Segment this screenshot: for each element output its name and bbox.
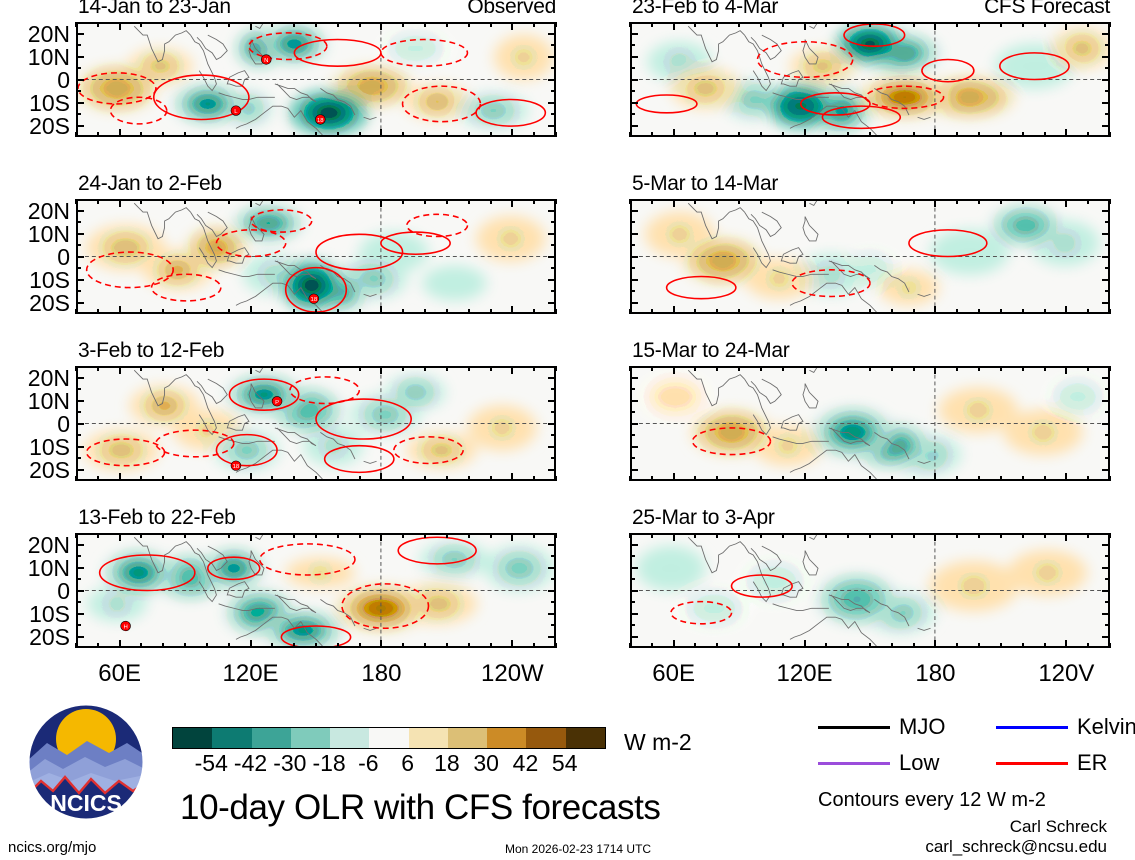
y-tick [551,411,556,413]
svg-text:N: N [264,58,268,64]
author-email[interactable]: carl_schreck@ncsu.edu [925,838,1107,856]
mjo-olr-figure: 14-Jan to 23-JanObservedNL1824-Jan to 2-… [0,0,1135,860]
x-tick [716,533,718,538]
x-axis-label: 60E [86,662,154,686]
x-tick [1087,309,1089,314]
y-tick [76,113,81,115]
x-tick [891,22,893,27]
x-tick [337,132,339,137]
y-tick [630,233,638,235]
y-tick [548,102,556,104]
x-tick [468,533,470,538]
panel-frame [630,366,1110,481]
y-axis-label: 20S [0,115,70,138]
x-tick [782,199,784,204]
panel-5-mar-to-14-mar: 5-Mar to 14-Mar [630,199,1110,314]
x-tick [555,309,557,314]
x-tick [271,476,273,481]
y-tick [76,210,84,212]
x-axis-label: 120W [478,662,546,686]
y-tick [548,210,556,212]
colorbar-segment [526,728,565,748]
x-tick [97,643,99,648]
x-tick [673,366,675,374]
x-tick [293,199,295,204]
y-tick [1102,377,1110,379]
y-tick [1105,388,1110,390]
y-tick [76,590,84,592]
x-tick [206,309,208,314]
x-tick [934,473,936,481]
x-tick [337,533,339,538]
x-tick [782,366,784,371]
x-tick [490,476,492,481]
panel-title: 15-Mar to 24-Mar [632,340,789,362]
x-tick [533,366,535,371]
x-tick [738,22,740,27]
y-tick [1105,290,1110,292]
x-tick [140,199,142,204]
panel-24-jan-to-2-feb: 24-Jan to 2-Feb18 [76,199,556,314]
x-tick [869,22,871,27]
y-tick [630,624,635,626]
y-tick [548,567,556,569]
x-tick [760,643,762,648]
panel-title: 3-Feb to 12-Feb [78,340,224,362]
y-tick [1105,244,1110,246]
x-tick [869,199,871,204]
x-tick [1000,643,1002,648]
colorbar[interactable] [172,727,606,749]
x-tick [1022,199,1024,204]
x-tick [402,132,404,137]
x-tick [119,473,121,481]
y-tick [551,601,556,603]
x-tick [555,366,557,371]
y-tick [76,567,84,569]
y-tick [548,33,556,35]
x-tick [913,366,915,371]
panel-title: 23-Feb to 4-Mar [632,0,778,18]
y-tick [630,578,635,580]
legend-item-kelvin-x2[interactable]: Kelvin x2 [996,716,1135,738]
y-tick [630,613,638,615]
x-tick [956,132,958,137]
y-tick [1102,302,1110,304]
x-tick [250,129,252,137]
olr-anomaly-field [632,24,1108,135]
x-tick [337,309,339,314]
y-tick [76,67,81,69]
y-tick [76,613,84,615]
x-tick [97,533,99,538]
x-tick [825,22,827,27]
legend-line-swatch [996,726,1068,729]
y-tick [1105,624,1110,626]
x-tick [825,132,827,137]
x-tick [380,640,382,648]
x-tick [402,309,404,314]
x-tick [511,22,513,30]
y-tick [548,636,556,638]
colorbar-segment [173,728,212,748]
x-tick [694,476,696,481]
legend-item-low[interactable]: Low [818,752,939,774]
x-tick [1087,643,1089,648]
panel-13-feb-to-22-feb: 13-Feb to 22-FebH [76,533,556,648]
panel-frame [630,22,1110,137]
x-tick [738,643,740,648]
x-tick [651,22,653,27]
x-tick [1000,476,1002,481]
x-tick [250,22,252,30]
y-axis-label: 0 [0,580,70,603]
x-tick [651,476,653,481]
y-tick [548,377,556,379]
x-tick [1044,366,1046,371]
x-tick [1109,22,1111,27]
x-tick [555,132,557,137]
y-tick [76,90,81,92]
x-tick [97,132,99,137]
x-tick [446,309,448,314]
panel-title: 5-Mar to 14-Mar [632,173,778,195]
x-tick [629,643,631,648]
y-tick [630,67,635,69]
y-tick [76,544,84,546]
site-link[interactable]: ncics.org/mjo [8,840,96,856]
colorbar-segment [330,728,369,748]
x-tick [402,22,404,27]
y-tick [551,44,556,46]
x-tick [337,199,339,204]
y-tick [1102,469,1110,471]
y-axis-label: 20S [0,292,70,315]
svg-text:18: 18 [311,297,318,303]
x-tick [75,132,77,137]
x-tick [978,309,980,314]
x-tick [402,476,404,481]
x-tick [271,309,273,314]
y-tick [76,244,81,246]
x-tick [673,199,675,207]
x-tick [1109,366,1111,371]
x-tick [446,643,448,648]
x-tick [1000,309,1002,314]
x-tick [380,533,382,541]
y-tick [551,290,556,292]
colorbar-segment [212,728,251,748]
x-tick [468,366,470,371]
x-tick [184,132,186,137]
y-tick [630,102,638,104]
y-tick [630,221,635,223]
x-tick [804,129,806,137]
x-tick [293,132,295,137]
x-tick [424,199,426,204]
panel-14-jan-to-23-jan: 14-Jan to 23-JanObservedNL18 [76,22,556,137]
x-tick [140,309,142,314]
y-tick [1105,457,1110,459]
x-tick [956,22,958,27]
x-tick [359,366,361,371]
x-tick [1022,643,1024,648]
y-tick [1102,446,1110,448]
x-tick [1087,132,1089,137]
y-tick [630,210,638,212]
storm-marker: H [121,621,131,631]
y-tick [630,33,638,35]
x-tick [978,533,980,538]
y-tick [76,457,81,459]
y-tick [1105,555,1110,557]
svg-text:P: P [275,400,279,406]
x-tick [206,22,208,27]
x-tick [75,199,77,204]
x-tick [825,366,827,371]
x-tick [956,533,958,538]
y-tick [551,578,556,580]
olr-anomaly-field: H [78,535,554,646]
x-tick [315,643,317,648]
y-axis-label: 20N [0,534,70,557]
x-tick [716,132,718,137]
x-tick [629,22,631,27]
x-tick [140,22,142,27]
y-tick [548,302,556,304]
x-tick [337,366,339,371]
x-tick [629,476,631,481]
y-tick [76,221,81,223]
y-tick [630,388,635,390]
x-tick [629,309,631,314]
y-axis-label: 20N [0,367,70,390]
y-tick [548,613,556,615]
x-tick [75,643,77,648]
legend-label: Kelvin x2 [1077,716,1135,738]
x-tick [271,643,273,648]
y-tick [630,302,638,304]
x-tick [228,309,230,314]
x-tick [804,199,806,207]
y-tick [1102,210,1110,212]
x-tick [250,473,252,481]
x-tick [293,533,295,538]
colorbar-segment [448,728,487,748]
panel-frame: H [76,533,556,648]
y-tick [1105,434,1110,436]
x-tick [825,476,827,481]
x-tick [694,533,696,538]
x-tick [913,132,915,137]
olr-anomaly-field [632,201,1108,312]
x-tick [891,366,893,371]
y-tick [76,33,84,35]
olr-anomaly-field [632,535,1108,646]
x-tick [978,22,980,27]
y-tick [630,411,635,413]
y-tick [1105,578,1110,580]
svg-text:18: 18 [317,118,324,124]
x-tick [228,643,230,648]
y-tick [1102,567,1110,569]
y-tick [76,411,81,413]
olr-anomaly-field: NL18 [78,24,554,135]
y-tick [630,377,638,379]
legend-line-swatch [996,762,1068,765]
legend-item-er[interactable]: ER [996,752,1108,774]
x-tick [760,132,762,137]
x-tick [934,199,936,207]
y-tick [630,56,638,58]
x-tick [673,640,675,648]
x-tick [380,473,382,481]
y-tick [1102,56,1110,58]
x-tick [716,199,718,204]
x-tick [913,476,915,481]
y-axis-label: 0 [0,69,70,92]
ncics-logo[interactable]: NCICS [27,703,145,821]
x-tick [337,22,339,27]
y-tick [76,267,81,269]
x-tick [1065,129,1067,137]
x-tick [315,476,317,481]
x-tick [1044,132,1046,137]
x-tick [119,129,121,137]
y-tick [548,279,556,281]
y-axis-label: 10S [0,92,70,115]
x-tick [119,533,121,541]
y-tick [548,233,556,235]
x-tick [1022,476,1024,481]
y-tick [551,457,556,459]
x-tick [651,366,653,371]
x-tick [446,22,448,27]
y-tick [551,90,556,92]
x-tick [673,129,675,137]
x-tick [446,533,448,538]
x-tick [206,476,208,481]
x-tick [1065,640,1067,648]
x-tick [359,199,361,204]
y-tick [76,388,81,390]
x-tick [315,533,317,538]
y-tick [630,244,635,246]
x-tick [629,132,631,137]
x-tick [119,366,121,374]
x-tick [490,199,492,204]
storm-marker: 18 [309,294,319,304]
panel-title: 14-Jan to 23-Jan [78,0,231,18]
x-tick [359,476,361,481]
legend-item-mjo[interactable]: MJO [818,716,945,738]
y-axis-label: 10N [0,223,70,246]
x-tick [869,476,871,481]
x-tick [760,199,762,204]
x-tick [359,132,361,137]
x-tick [891,309,893,314]
y-tick [76,233,84,235]
colorbar-units-label: W m-2 [624,731,692,754]
x-tick [673,306,675,314]
x-tick [1044,199,1046,204]
y-tick [548,469,556,471]
y-tick [1105,601,1110,603]
y-tick [76,636,84,638]
y-tick [1102,79,1110,81]
x-tick [629,199,631,204]
x-tick [533,643,535,648]
x-tick [250,306,252,314]
x-tick [424,643,426,648]
y-tick [630,125,638,127]
x-axis-label: 120E [771,662,839,686]
x-tick [424,476,426,481]
x-tick [891,643,893,648]
y-tick [1102,233,1110,235]
x-tick [490,643,492,648]
y-tick [630,469,638,471]
x-tick [293,22,295,27]
x-tick [1109,476,1111,481]
y-tick [1102,590,1110,592]
y-tick [548,79,556,81]
x-tick [1044,533,1046,538]
x-tick [380,199,382,207]
panel-23-feb-to-4-mar: 23-Feb to 4-MarCFS Forecast [630,22,1110,137]
x-tick [825,309,827,314]
panel-title: 13-Feb to 22-Feb [78,507,235,529]
x-tick [716,309,718,314]
x-tick [847,476,849,481]
x-tick [1044,22,1046,27]
storm-marker: N [261,55,271,65]
olr-anomaly-field: 18 [78,201,554,312]
x-tick [913,199,915,204]
x-tick [694,309,696,314]
x-tick [315,309,317,314]
x-tick [760,22,762,27]
x-tick [1022,366,1024,371]
legend-label: Low [899,752,939,774]
y-axis-label: 10S [0,436,70,459]
colorbar-segment [487,728,526,748]
x-tick [716,643,718,648]
x-tick [446,132,448,137]
x-axis-label: 180 [347,662,415,686]
x-tick [1087,22,1089,27]
x-tick [511,533,513,541]
x-tick [891,533,893,538]
x-tick [673,22,675,30]
x-tick [978,199,980,204]
x-tick [206,366,208,371]
x-tick [1000,132,1002,137]
x-tick [1065,473,1067,481]
x-tick [1065,366,1067,374]
y-tick [630,590,638,592]
x-tick [97,366,99,371]
x-tick [694,132,696,137]
x-tick [75,366,77,371]
x-tick [511,473,513,481]
x-tick [424,132,426,137]
y-tick [76,44,81,46]
x-tick [847,366,849,371]
contour-interval-note: Contours every 12 W m-2 [818,790,1046,811]
x-tick [468,132,470,137]
x-tick [271,366,273,371]
